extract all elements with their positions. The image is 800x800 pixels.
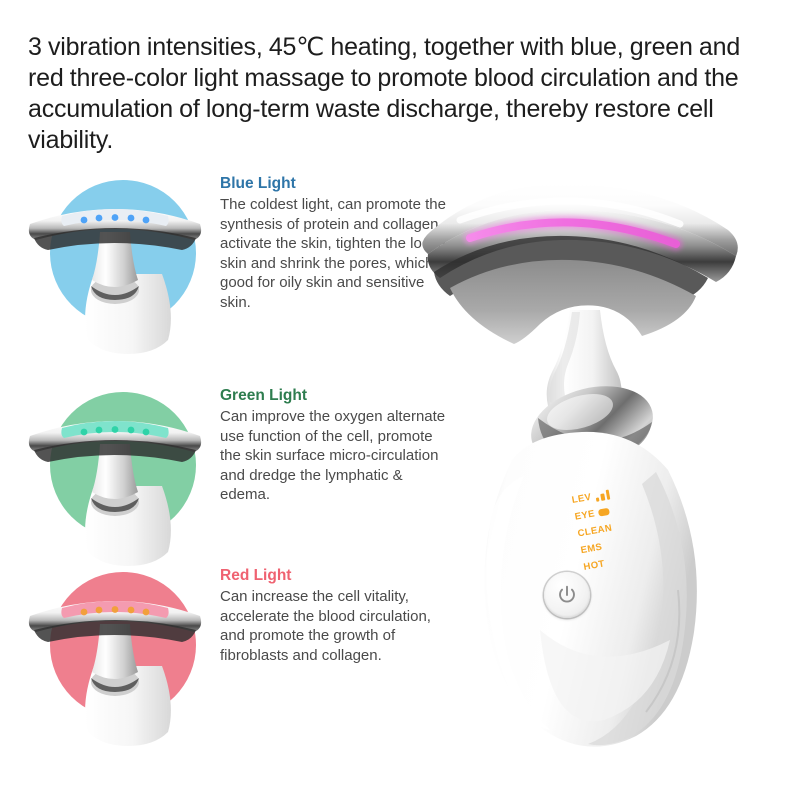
mini-device-red: [22, 562, 208, 748]
feature-title-red: Red Light: [220, 566, 452, 586]
product-feature-page: 3 vibration intensities, 45℃ heating, to…: [0, 0, 800, 800]
feature-body-red: Can increase the cell vitality, accelera…: [220, 587, 452, 665]
panel-label-eye: EYE: [574, 508, 596, 522]
feature-title-blue: Blue Light: [220, 174, 452, 194]
panel-label-ems: EMS: [580, 542, 603, 557]
product-illustration: [420, 160, 800, 770]
panel-label-hot: HOT: [583, 558, 606, 573]
feature-body-green: Can improve the oxygen alternate use fun…: [220, 407, 452, 505]
feature-body-blue: The coldest light, can promote the synth…: [220, 195, 452, 312]
thumbnail-green: [22, 382, 208, 568]
feature-title-green: Green Light: [220, 386, 452, 406]
level-bars-icon: [594, 489, 610, 501]
thumbnail-red: [22, 562, 208, 748]
power-button[interactable]: [544, 572, 590, 618]
eye-indicator-icon: [598, 508, 610, 517]
page-headline: 3 vibration intensities, 45℃ heating, to…: [28, 32, 776, 156]
mini-device-green: [22, 382, 208, 568]
feature-text-blue: Blue Light The coldest light, can promot…: [220, 174, 452, 312]
feature-text-green: Green Light Can improve the oxygen alter…: [220, 386, 452, 505]
feature-text-red: Red Light Can increase the cell vitality…: [220, 566, 452, 665]
power-icon: [556, 584, 578, 606]
product-image: LEV EYE CLEAN EMS HOT: [420, 160, 800, 770]
thumbnail-blue: [22, 170, 208, 356]
mini-device-blue: [22, 170, 208, 356]
panel-label-lev: LEV: [571, 492, 592, 506]
